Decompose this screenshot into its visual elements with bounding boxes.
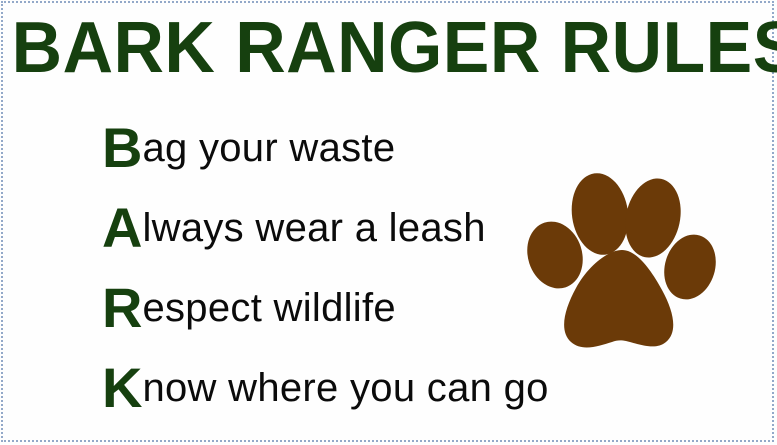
rules-list: B ag your waste A lways wear a leash R e… — [102, 108, 572, 428]
list-item: K now where you can go — [102, 348, 572, 428]
list-item: B ag your waste — [102, 108, 572, 188]
rule-initial-k: K — [102, 360, 142, 416]
rule-initial-a: A — [102, 200, 142, 256]
paw-print-icon — [522, 172, 716, 357]
rule-text-r: espect wildlife — [142, 288, 396, 328]
list-item: R espect wildlife — [102, 268, 572, 348]
rule-text-b: ag your waste — [142, 128, 395, 168]
rule-initial-r: R — [102, 280, 142, 336]
rule-text-k: now where you can go — [142, 368, 548, 408]
bark-ranger-rules-sign: BARK RANGER RULES B ag your waste A lway… — [0, 0, 777, 445]
rule-text-a: lways wear a leash — [142, 208, 485, 248]
page-title: BARK RANGER RULES — [12, 12, 766, 84]
rule-initial-b: B — [102, 120, 142, 176]
list-item: A lways wear a leash — [102, 188, 572, 268]
